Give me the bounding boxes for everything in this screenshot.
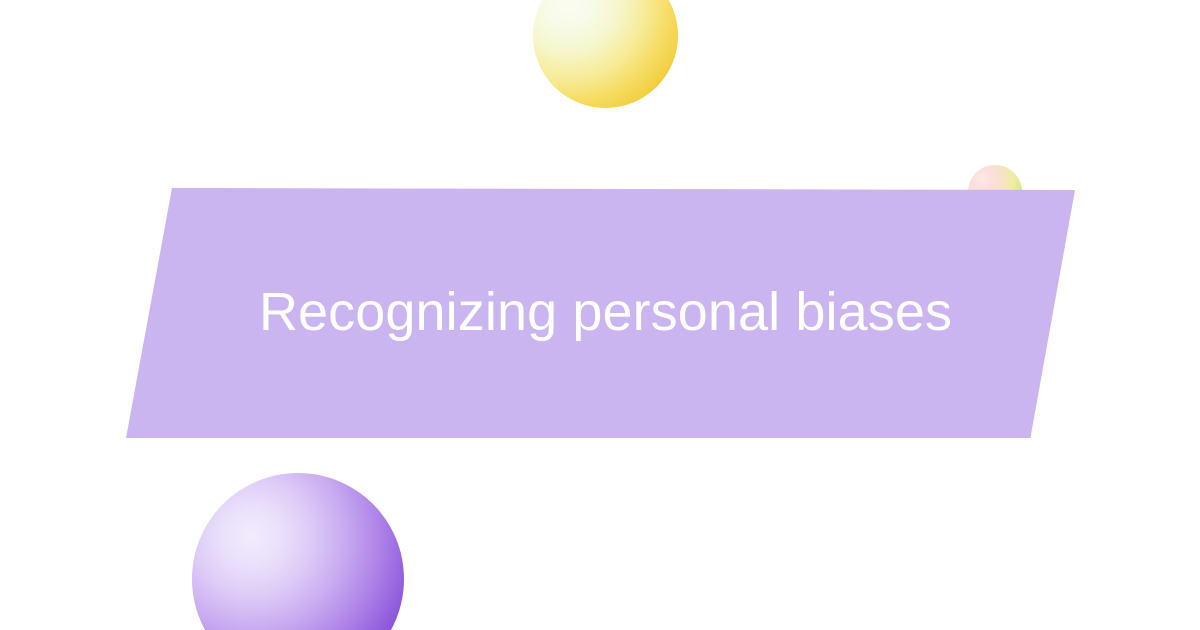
page-title: Recognizing personal biases — [126, 188, 1075, 438]
hero-canvas: Recognizing personal biases — [0, 0, 1200, 630]
purple-sphere-decoration — [192, 473, 404, 630]
title-banner: Recognizing personal biases — [126, 188, 1075, 438]
yellow-sphere-decoration — [533, 0, 678, 108]
